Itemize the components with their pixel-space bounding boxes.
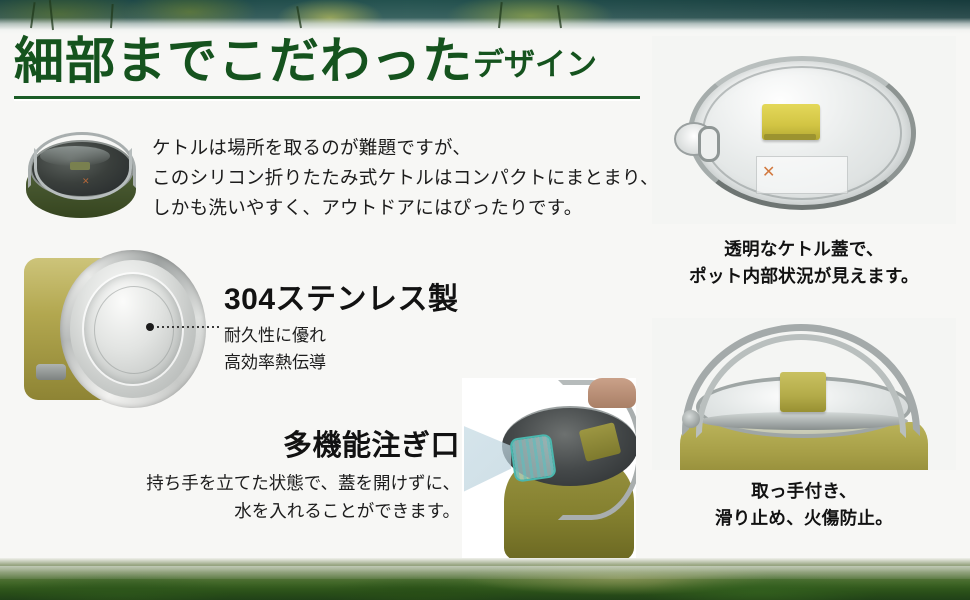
steel-sub-line-2: 高効率熱伝導 — [224, 349, 544, 376]
intro-line-1: ケトルは場所を取るのが難題ですが、 — [152, 133, 632, 163]
bottom-nature-band — [0, 558, 970, 600]
spout-feature-heading: 多機能注ぎ口 — [130, 430, 460, 463]
spout-feature-sub: 持ち手を立てた状態で、蓋を開けずに、 水を入れることができます。 — [130, 469, 460, 525]
page-title-main: 細部までこだわった — [14, 33, 473, 89]
infographic-page: 細部までこだわったデザイン ✕ ケトルは場所を取るのが難題ですが、 このシリコン… — [0, 0, 970, 600]
intro-paragraph: ケトルは場所を取るのが難題ですが、 このシリコン折りたたみ式ケトルはコンパクトに… — [152, 133, 632, 223]
twig-decoration — [557, 5, 562, 28]
twig-decoration — [49, 0, 54, 30]
twig-decoration — [30, 2, 36, 28]
transparent-lid-photo: ✕ — [652, 36, 956, 224]
steel-sub-line-1: 耐久性に優れ — [224, 322, 544, 349]
title-divider — [14, 96, 640, 99]
bottle-neck — [509, 433, 557, 482]
page-header: 細部までこだわったデザイン — [14, 36, 644, 99]
steel-feature-block: 304ステンレス製 耐久性に優れ 高効率熱伝導 — [224, 283, 544, 376]
handle-caption: 取っ手付き、 滑り止め、火傷防止。 — [652, 478, 956, 532]
spout-sub-line-1: 持ち手を立てた状態で、蓋を開けずに、 — [130, 469, 460, 497]
lid-caption-line-1: 透明なケトル蓋で、 — [652, 236, 956, 263]
lid-slot — [698, 126, 720, 162]
twig-decoration — [110, 4, 114, 28]
no-flame-icon: ✕ — [762, 162, 776, 181]
handle-clip — [36, 364, 66, 380]
intro-line-2: このシリコン折りたたみ式ケトルはコンパクトにまとまり、 — [152, 163, 632, 193]
collapsed-kettle-photo: ✕ — [14, 122, 148, 226]
top-nature-band — [0, 0, 970, 34]
spout-feature-block: 多機能注ぎ口 持ち手を立てた状態で、蓋を開けずに、 水を入れることができます。 — [130, 430, 460, 525]
lid-caption-line-2: ポット内部状況が見えます。 — [652, 263, 956, 290]
haze-overlay — [0, 566, 970, 579]
handle-caption-line-1: 取っ手付き、 — [652, 478, 956, 505]
twig-decoration — [296, 6, 302, 28]
kettle-handle-photo — [652, 318, 956, 470]
pouring-water-photo — [462, 378, 636, 558]
steel-feature-sub: 耐久性に優れ 高効率熱伝導 — [224, 322, 544, 376]
leader-dot — [146, 323, 154, 331]
intro-line-3: しかも洗いやすく、アウトドアにはぴったりです。 — [152, 193, 632, 223]
lid-tab-lip — [764, 134, 816, 140]
page-title-sub: デザイン — [473, 47, 597, 82]
page-title: 細部までこだわったデザイン — [14, 36, 644, 86]
lid-caption: 透明なケトル蓋で、 ポット内部状況が見えます。 — [652, 236, 956, 290]
handle-pivot — [682, 410, 700, 428]
hand — [588, 378, 636, 408]
twig-decoration — [498, 2, 503, 28]
callout-leader-line — [146, 322, 220, 332]
leader-dashes — [157, 326, 220, 328]
steel-feature-heading: 304ステンレス製 — [224, 283, 544, 316]
spout-sub-line-2: 水を入れることができます。 — [130, 497, 460, 525]
handle-caption-line-2: 滑り止め、火傷防止。 — [652, 505, 956, 532]
